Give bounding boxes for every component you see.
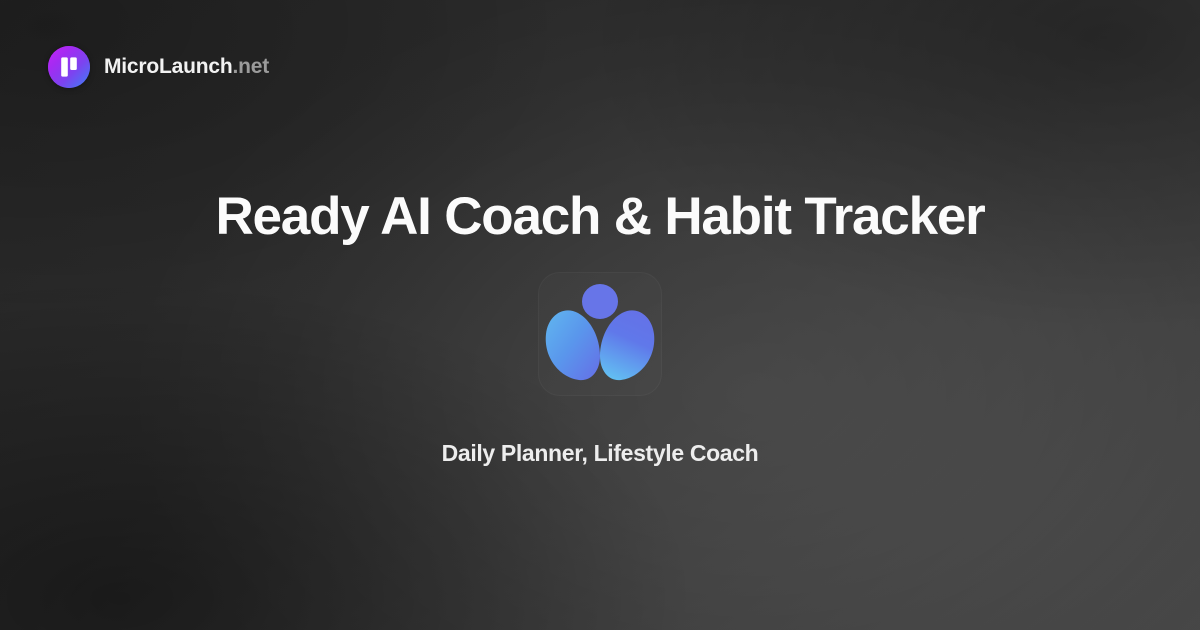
microlaunch-bars-logo-icon xyxy=(48,46,90,88)
center-stack: Ready AI Coach & Habit Tracker xyxy=(0,0,1200,630)
icon-left-petal xyxy=(546,310,600,380)
page-tagline: Daily Planner, Lifestyle Coach xyxy=(0,437,1200,469)
icon-right-petal xyxy=(600,310,654,380)
brand-name-tld: .net xyxy=(232,55,269,78)
page-title: Ready AI Coach & Habit Tracker xyxy=(0,186,1200,248)
brand-name-main: MicroLaunch xyxy=(104,55,232,78)
lotus-person-icon xyxy=(538,272,662,396)
icon-head-circle xyxy=(582,284,618,319)
og-card: MicroLaunch.net Ready AI Coach & Habit T… xyxy=(0,0,1200,630)
app-icon-card xyxy=(538,272,662,396)
brand-watermark[interactable]: MicroLaunch.net xyxy=(48,46,269,88)
brand-name: MicroLaunch.net xyxy=(104,55,269,79)
